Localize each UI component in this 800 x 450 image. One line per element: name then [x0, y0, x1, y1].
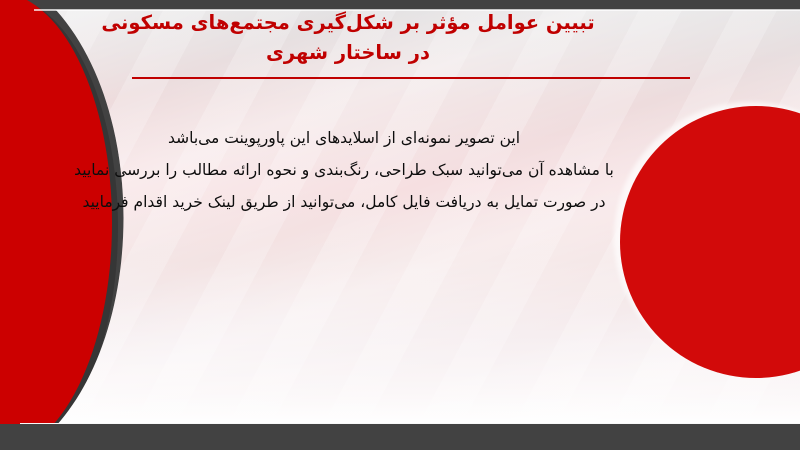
title-line-1: تبیین عوامل مؤثر بر شکل‌گیری مجتمع‌های م… [0, 8, 696, 38]
slide-title: تبیین عوامل مؤثر بر شکل‌گیری مجتمع‌های م… [0, 8, 696, 68]
body-line-1: این تصویر نمونه‌ای از اسلایدهای این پاور… [0, 122, 688, 154]
slide-content-area [16, 10, 800, 426]
title-underline-rule [132, 77, 690, 79]
title-line-2: در ساختار شهری [0, 38, 696, 68]
body-line-3: در صورت تمایل به دریافت فایل کامل، می‌تو… [0, 186, 688, 218]
body-line-2: با مشاهده آن می‌توانید سبک طراحی، رنگ‌بن… [0, 154, 688, 186]
presentation-slide: تبیین عوامل مؤثر بر شکل‌گیری مجتمع‌های م… [0, 0, 800, 450]
slide-body-text: این تصویر نمونه‌ای از اسلایدهای این پاور… [0, 122, 688, 218]
slide-bottom-band [0, 424, 800, 450]
